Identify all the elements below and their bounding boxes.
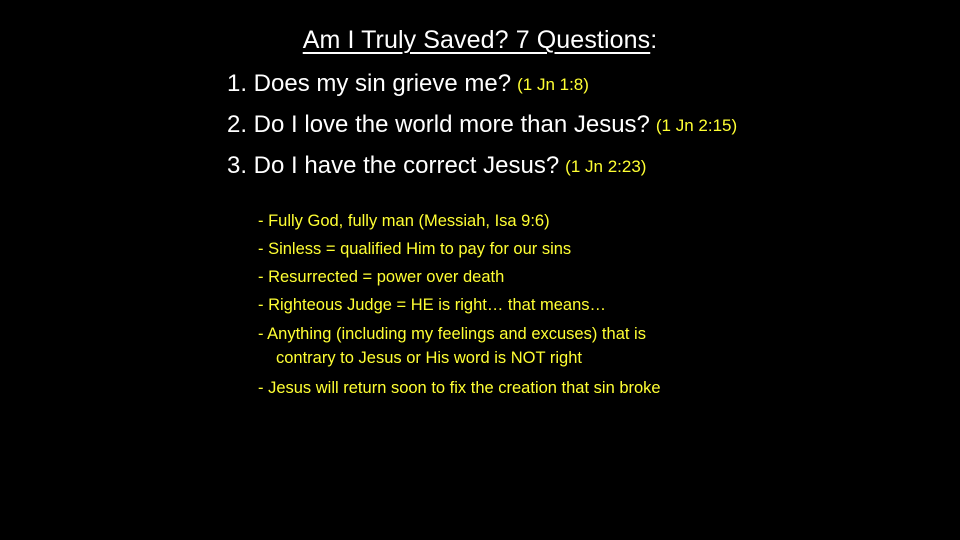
question-reference-3: (1 Jn 2:23) [565, 157, 646, 176]
subpoint-text-6: - Jesus will return soon to fix the crea… [258, 379, 661, 397]
subpoint-text-3: - Resurrected = power over death [258, 268, 504, 286]
presentation-slide: Am I Truly Saved? 7 Questions: 1. Does m… [0, 0, 960, 540]
subpoint-item-3: - Resurrected = power over death [258, 263, 898, 291]
question-item-1: 1. Does my sin grieve me?(1 Jn 1:8) [227, 69, 927, 110]
page-title: Am I Truly Saved? 7 Questions: [0, 25, 960, 55]
question-reference-2: (1 Jn 2:15) [656, 116, 737, 135]
page-title-colon: : [650, 26, 657, 54]
question-list: 1. Does my sin grieve me?(1 Jn 1:8) 2. D… [227, 69, 927, 192]
subpoint-text-1: - Fully God, fully man (Messiah, Isa 9:6… [258, 212, 550, 230]
question-text-1: 1. Does my sin grieve me? [227, 70, 511, 97]
subpoint-text-4: - Righteous Judge = HE is right… that me… [258, 296, 606, 314]
question-item-3: 3. Do I have the correct Jesus?(1 Jn 2:2… [227, 151, 927, 192]
subpoint-item-1: - Fully God, fully man (Messiah, Isa 9:6… [258, 207, 898, 235]
subpoint-list: - Fully God, fully man (Messiah, Isa 9:6… [258, 207, 898, 402]
subpoint-text-5: - Anything (including my feelings and ex… [258, 325, 646, 343]
subpoint-item-5: - Anything (including my feelings and ex… [258, 319, 898, 374]
subpoint-item-6: - Jesus will return soon to fix the crea… [258, 374, 898, 402]
page-title-underlined-text: Am I Truly Saved? 7 Questions [303, 26, 651, 54]
question-reference-1: (1 Jn 1:8) [517, 75, 589, 94]
subpoint-text-2: - Sinless = qualified Him to pay for our… [258, 240, 571, 258]
question-text-3: 3. Do I have the correct Jesus? [227, 152, 559, 179]
subpoint-item-2: - Sinless = qualified Him to pay for our… [258, 235, 898, 263]
question-text-2: 2. Do I love the world more than Jesus? [227, 111, 650, 138]
subpoint-text-5-continuation: contrary to Jesus or His word is NOT rig… [258, 346, 898, 370]
subpoint-item-4: - Righteous Judge = HE is right… that me… [258, 291, 898, 319]
question-item-2: 2. Do I love the world more than Jesus?(… [227, 110, 927, 151]
